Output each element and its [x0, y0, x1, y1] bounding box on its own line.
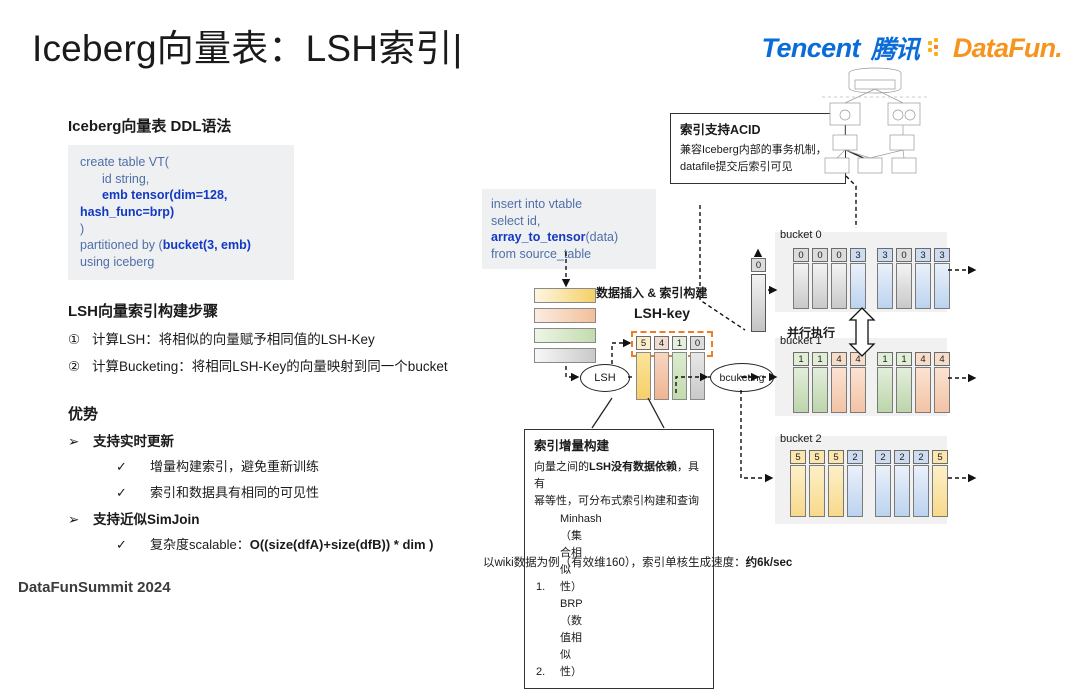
- bucket-vector-bar: [934, 367, 950, 413]
- bucket-key-cell: 4: [934, 352, 950, 366]
- lsh-key-cell: 5: [636, 336, 651, 350]
- check-icon: ✓: [116, 537, 150, 553]
- bucket-vector-bar: [877, 367, 893, 413]
- sql-line-2: select id,: [491, 213, 647, 230]
- bucket-vector-column: 2: [847, 450, 863, 517]
- bucket-vector-column: 3: [877, 248, 893, 309]
- code-line-1: create table VT(: [80, 154, 282, 171]
- bucket-key-cell: 3: [850, 248, 866, 262]
- bucket-2-group-0: 5552: [790, 450, 863, 517]
- advantage-a-label: 支持实时更新: [93, 434, 174, 449]
- bucket-key-cell: 5: [828, 450, 844, 464]
- callout-index-line-1a: 向量之间的: [534, 461, 589, 473]
- advantage-a-item-2: ✓索引和数据具有相同的可见性: [116, 482, 319, 501]
- lsh-key-cell: 0: [690, 336, 705, 350]
- bucket-key-cell: 4: [831, 352, 847, 366]
- bucket-vector-column: 4: [934, 352, 950, 413]
- callout-index-item-2-num: 2.: [536, 664, 560, 681]
- bucket-vector-bar: [932, 465, 948, 517]
- source-row-3: [534, 348, 596, 363]
- wiki-benchmark-note: 以wiki数据为例（有效维160），索引单核生成速度：约6k/sec: [483, 554, 792, 570]
- callout-acid: 索引支持ACID 兼容Iceberg内部的事务机制， datafile提交后索引…: [670, 113, 846, 184]
- bucket-vector-bar: [894, 465, 910, 517]
- source-table-stack: [534, 288, 596, 368]
- bucket-key-cell: 4: [915, 352, 931, 366]
- check-icon: ✓: [116, 459, 150, 475]
- footer-brand: DataFunSummit 2024: [18, 579, 171, 596]
- bucket-key-cell: 5: [809, 450, 825, 464]
- datafun-dots-icon: [928, 38, 946, 58]
- bucket-vector-column: 1: [812, 352, 828, 413]
- bucket-key-cell: 3: [877, 248, 893, 262]
- bucket-key-cell: 3: [915, 248, 931, 262]
- bucket-vector-bar: [812, 367, 828, 413]
- ddl-code-block: create table VT( id string, emb tensor(d…: [68, 145, 294, 280]
- tencent-logo-cn: 腾讯: [871, 30, 919, 66]
- sql-line-4: from source_table: [491, 246, 647, 263]
- callout-index-line-1b: LSH没有数据依赖: [589, 461, 677, 473]
- bucket-key-cell: 2: [847, 450, 863, 464]
- bucket-vector-column: 0: [793, 248, 809, 309]
- bucket-vector-bar: [831, 263, 847, 309]
- bucket-vector-column: 0: [896, 248, 912, 309]
- bucket-1-label: bucket 1: [780, 335, 822, 347]
- advantage-b-label: 支持近似SimJoin: [93, 512, 200, 527]
- callout-index-item-2: 2.BRP（数值相似性）: [534, 596, 704, 681]
- callout-index-title: 索引增量构建: [534, 437, 704, 456]
- bucket-vector-bar: [812, 263, 828, 309]
- bucket-1-group-0: 1144: [793, 352, 866, 413]
- bucket-vector-bar: [877, 263, 893, 309]
- bucket-vector-column: 1: [877, 352, 893, 413]
- source-row-2: [534, 328, 596, 343]
- bucket-vector-bar: [847, 465, 863, 517]
- lsh-vector-bar: [654, 352, 669, 400]
- bucket-vector-bar: [793, 367, 809, 413]
- advantage-b-item-formula: O((size(dfA)+size(dfB)) * dim ): [250, 537, 434, 552]
- code-line-5: ): [80, 221, 282, 238]
- datafun-logo-text: DataFun.: [953, 33, 1062, 64]
- bucket-0-group-0: 0003: [793, 248, 866, 309]
- bucket-vector-column: 2: [875, 450, 891, 517]
- bucket-0-group-1: 3033: [877, 248, 950, 309]
- bucket-vector-column: 2: [894, 450, 910, 517]
- bucket-vector-column: 4: [850, 352, 866, 413]
- label-data-insert-index-build: 数据插入 & 索引构建: [596, 284, 707, 301]
- bucket-vector-column: 4: [915, 352, 931, 413]
- bucket-vector-column: 1: [896, 352, 912, 413]
- code-line-3: emb tensor(dim=128,: [102, 188, 227, 202]
- bucket-vector-column: 4: [831, 352, 847, 413]
- advantage-realtime-update: ➢支持实时更新: [68, 430, 174, 450]
- bucket-2-label: bucket 2: [780, 433, 822, 445]
- wiki-note-prefix: 以wiki数据为例（有效维160），索引单核生成速度：: [483, 557, 746, 569]
- label-lsh-key: LSH-key: [634, 305, 690, 321]
- bucket-key-cell: 1: [812, 352, 828, 366]
- bucket-vector-bar: [793, 263, 809, 309]
- slide-root: Iceberg向量表：LSH索引| Tencent 腾讯 DataFun. Ic…: [0, 0, 1080, 608]
- step-2-text: 计算Bucketing：将相同LSH-Key的向量映射到同一个bucket: [92, 359, 448, 374]
- bucket-vector-bar: [915, 367, 931, 413]
- bucket-vector-bar: [828, 465, 844, 517]
- bucket-key-cell: 4: [850, 352, 866, 366]
- bucket-vector-column: 3: [915, 248, 931, 309]
- bucket-vector-column: 5: [809, 450, 825, 517]
- bucket-2-group-1: 2225: [875, 450, 948, 517]
- bucket-key-cell: 3: [934, 248, 950, 262]
- bucketing-input-column: 0: [751, 258, 766, 332]
- lsh-vector-bar: [690, 352, 705, 400]
- step-1-text: 计算LSH：将相似的向量赋予相同值的LSH-Key: [92, 332, 375, 347]
- bucket-vector-column: 2: [913, 450, 929, 517]
- bucket-key-cell: 0: [793, 248, 809, 262]
- advantage-a-item-1: ✓增量构建索引，避免重新训练: [116, 456, 319, 475]
- callout-acid-line-1: 兼容Iceberg内部的事务机制，: [680, 142, 836, 159]
- bucket-key-cell: 1: [896, 352, 912, 366]
- callout-index-item-2-text: BRP（数值相似性）: [560, 596, 584, 681]
- bucket-vector-bar: [875, 465, 891, 517]
- advantage-b-item-prefix: 复杂度scalable：: [150, 537, 250, 552]
- bucket-vector-bar: [831, 367, 847, 413]
- code-line-6b: bucket(3, emb): [163, 238, 251, 252]
- bucket-key-cell: 0: [831, 248, 847, 262]
- bucket-vector-bar: [809, 465, 825, 517]
- node-bucketing: bcuketing: [710, 363, 774, 392]
- code-line-7: using iceberg: [80, 254, 282, 271]
- lsh-step-1: ①计算LSH：将相似的向量赋予相同值的LSH-Key: [68, 328, 375, 348]
- callout-acid-line-2: datafile提交后索引可见: [680, 159, 836, 176]
- code-line-4: hash_func=brp): [80, 205, 174, 219]
- code-line-2: id string,: [80, 171, 282, 188]
- bullet-arrow-icon: ➢: [68, 434, 93, 450]
- bucket-key-cell: 5: [790, 450, 806, 464]
- bucketing-key-cell: 0: [751, 258, 766, 272]
- code-line-6a: partitioned by (: [80, 238, 163, 252]
- callout-acid-title: 索引支持ACID: [680, 121, 836, 140]
- bucket-vector-column: 5: [828, 450, 844, 517]
- sql-line-3-arg: (data): [586, 230, 619, 244]
- bucket-vector-bar: [790, 465, 806, 517]
- source-row-1: [534, 308, 596, 323]
- bucket-0-label: bucket 0: [780, 229, 822, 241]
- step-1-number: ①: [68, 332, 92, 348]
- bucket-key-cell: 1: [793, 352, 809, 366]
- advantages-heading: 优势: [68, 403, 98, 424]
- bucket-vector-bar: [915, 263, 931, 309]
- bucket-key-cell: 0: [896, 248, 912, 262]
- callout-index-line-2: 幂等性，可分布式索引构建和查询: [534, 493, 704, 510]
- bucket-vector-column: 3: [850, 248, 866, 309]
- ddl-heading: Iceberg向量表 DDL语法: [68, 115, 231, 136]
- insert-sql-block: insert into vtable select id, array_to_t…: [482, 189, 656, 269]
- lsh-step-2: ②计算Bucketing：将相同LSH-Key的向量映射到同一个bucket: [68, 355, 448, 375]
- tencent-logo-text: Tencent: [762, 33, 860, 64]
- sql-line-1: insert into vtable: [491, 196, 647, 213]
- bucket-vector-bar: [913, 465, 929, 517]
- bucket-vector-bar: [896, 367, 912, 413]
- bucket-key-cell: 2: [875, 450, 891, 464]
- lsh-steps-heading: LSH向量索引构建步骤: [68, 300, 218, 321]
- lsh-key-group: 5 4 1 0: [636, 336, 708, 400]
- bucket-vector-column: 3: [934, 248, 950, 309]
- bucket-vector-bar: [934, 263, 950, 309]
- lsh-vector-bar: [672, 352, 687, 400]
- bucketing-vector-bar: [751, 274, 766, 332]
- bucket-1-group-1: 1144: [877, 352, 950, 413]
- bucket-vector-bar: [896, 263, 912, 309]
- bucket-vector-column: 0: [812, 248, 828, 309]
- lsh-key-cell: 4: [654, 336, 669, 350]
- sql-line-3-fn: array_to_tensor: [491, 230, 586, 244]
- bucket-vector-column: 0: [831, 248, 847, 309]
- advantage-simjoin: ➢支持近似SimJoin: [68, 508, 200, 528]
- lsh-key-cell: 1: [672, 336, 687, 350]
- page-title: Iceberg向量表：LSH索引|: [32, 18, 462, 72]
- node-lsh: LSH: [580, 364, 630, 392]
- bucket-vector-column: 5: [790, 450, 806, 517]
- source-row-0: [534, 288, 596, 303]
- bucket-vector-column: 1: [793, 352, 809, 413]
- bullet-arrow-icon: ➢: [68, 512, 93, 528]
- advantage-b-item-1: ✓复杂度scalable：O((size(dfA)+size(dfB)) * d…: [116, 534, 434, 553]
- wiki-note-speed: 约6k/sec: [746, 557, 793, 569]
- lsh-vector-bars: [636, 352, 708, 400]
- bucket-key-cell: 0: [812, 248, 828, 262]
- advantage-a-item-2-text: 索引和数据具有相同的可见性: [150, 485, 319, 500]
- bucket-vector-column: 5: [932, 450, 948, 517]
- bucket-key-cell: 1: [877, 352, 893, 366]
- bucket-key-cell: 5: [932, 450, 948, 464]
- bucket-key-cell: 2: [894, 450, 910, 464]
- step-2-number: ②: [68, 359, 92, 375]
- bucket-key-cell: 2: [913, 450, 929, 464]
- title-caret: |: [453, 28, 463, 69]
- check-icon: ✓: [116, 485, 150, 501]
- logo-group: Tencent 腾讯 DataFun.: [762, 30, 1062, 66]
- advantage-a-item-1-text: 增量构建索引，避免重新训练: [150, 459, 319, 474]
- lsh-vector-bar: [636, 352, 651, 400]
- bucket-vector-bar: [850, 367, 866, 413]
- bucket-vector-bar: [850, 263, 866, 309]
- callout-index-item-1-num: 1.: [536, 579, 560, 596]
- lsh-key-row: 5 4 1 0: [636, 336, 708, 350]
